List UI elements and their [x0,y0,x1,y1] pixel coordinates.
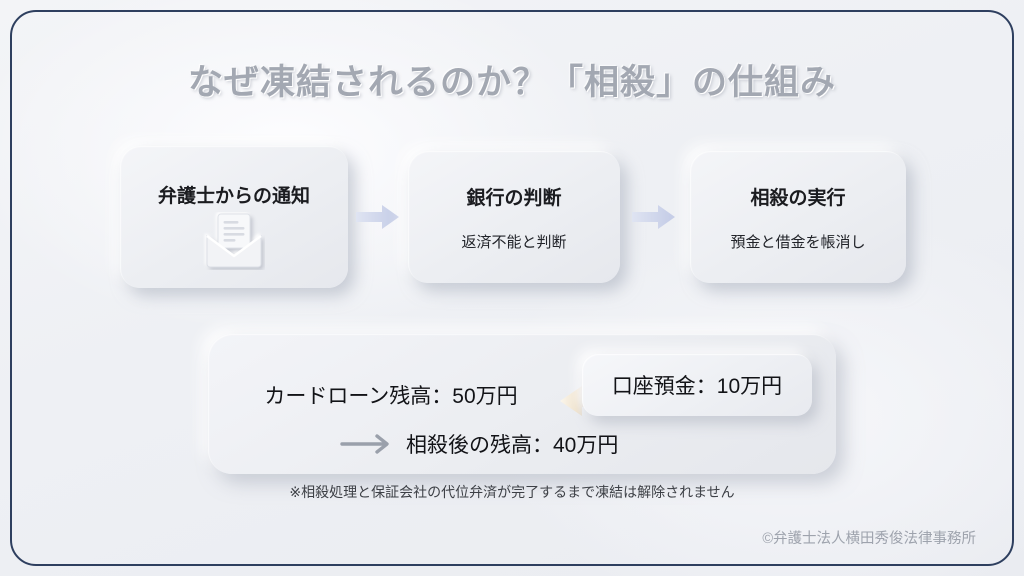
arrow-right-icon [356,204,400,230]
slide-canvas: なぜ凍結されるのか？「相殺」の仕組み 弁護士からの通知 [0,0,1024,576]
deposit-amount-card: 口座預金：10万円 [582,354,812,416]
flow-step-subtitle: 預金と借金を帳消し [690,231,906,252]
envelope-document-icon [203,212,265,270]
flow-step-title: 相殺の実行 [690,183,906,210]
arrow-right-icon [632,204,676,230]
offset-result-row: 相殺後の残高：40万円 [340,426,760,462]
flow-step-card-bank-judgment: 銀行の判断 返済不能と判断 [408,151,620,283]
flow-step-card-notice: 弁護士からの通知 [120,146,348,288]
copyright-text: ©弁護士法人横田秀俊法律事務所 [762,527,976,548]
process-flow-row: 弁護士からの通知 [0,146,1024,288]
footnote-text: ※相殺処理と保証会社の代位弁済が完了するまで凍結は解除されません [0,482,1024,502]
offset-calculation-panel: カードローン残高：50万円 口座預金：10万円 [208,334,836,474]
page-title: なぜ凍結されるのか？「相殺」の仕組み [0,54,1024,105]
arrow-right-icon [340,433,396,455]
flow-step-title: 弁護士からの通知 [120,181,348,208]
flow-step-title: 銀行の判断 [408,183,620,210]
deposit-amount-label: 口座預金：10万円 [612,370,782,400]
flow-step-card-offset-execution: 相殺の実行 預金と借金を帳消し [690,151,906,283]
flow-step-subtitle: 返済不能と判断 [408,231,620,252]
loan-balance-label: カードローン残高：50万円 [226,380,556,410]
offset-result-label: 相殺後の残高：40万円 [406,429,618,459]
